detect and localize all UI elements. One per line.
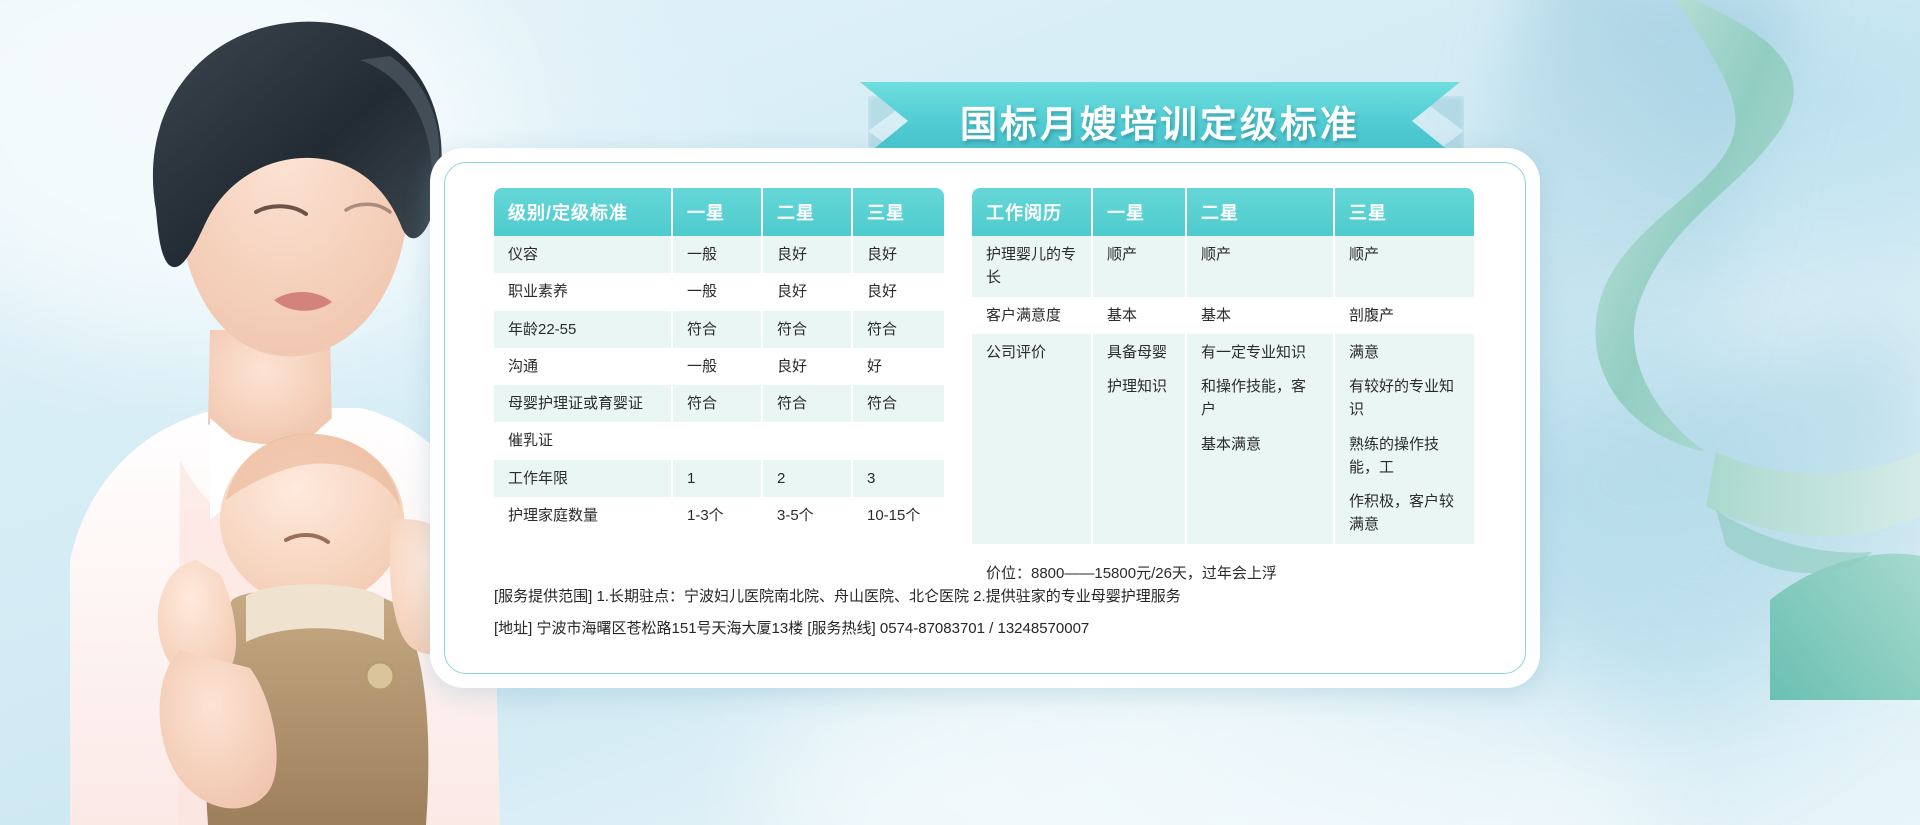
cell-two-star: 符合 [762,385,852,422]
cell-three-star: 良好 [852,273,944,310]
table-row: 职业素养 一般 良好 良好 [494,273,944,310]
work-experience-section: 工作阅历 一星 二星 三星 护理婴儿的专长 顺产 顺产 [972,188,1474,589]
grading-standard-table: 级别/定级标准 一星 二星 三星 仪容 一般 良好 良好 职业素养 [494,188,944,534]
cell-line: 基本 [1201,304,1319,327]
cell-one-star: 一般 [672,348,762,385]
cell-one-star: 1-3个 [672,497,762,534]
cell-two-star: 良好 [762,236,852,273]
page-title: 国标月嫂培训定级标准 [960,94,1360,148]
tables-container: 级别/定级标准 一星 二星 三星 仪容 一般 良好 良好 职业素养 [494,188,1488,589]
cell-two-star [762,422,852,459]
row-label: 客户满意度 [972,297,1092,334]
column-header-one-star: 一星 [1092,188,1186,236]
row-label: 公司评价 [972,334,1092,544]
cell-line: 满意 [1349,341,1460,364]
row-label: 职业素养 [494,273,672,310]
table-row: 催乳证 [494,422,944,459]
cell-three-star: 顺产 [1334,236,1474,297]
column-header-three-star: 三星 [1334,188,1474,236]
cell-three-star: 剖腹产 [1334,297,1474,334]
cell-three-star: 符合 [852,385,944,422]
cell-two-star: 良好 [762,273,852,310]
cell-one-star: 符合 [672,385,762,422]
cell-two-star: 顺产 [1186,236,1334,297]
grading-standard-body: 仪容 一般 良好 良好 职业素养 一般 良好 良好 年龄22-55 符合 [494,236,944,534]
cell-one-star: 一般 [672,273,762,310]
cell-line: 有较好的专业知识 [1349,375,1460,422]
cell-line: 剖腹产 [1349,304,1460,327]
column-header-experience: 工作阅历 [972,188,1092,236]
row-label: 年龄22-55 [494,311,672,348]
cell-line: 顺产 [1349,243,1460,266]
cell-two-star: 良好 [762,348,852,385]
cell-two-star: 3-5个 [762,497,852,534]
row-label: 护理家庭数量 [494,497,672,534]
cell-one-star: 基本 [1092,297,1186,334]
table-row: 沟通 一般 良好 好 [494,348,944,385]
table-row: 护理婴儿的专长 顺产 顺产 顺产 [972,236,1474,297]
cell-one-star: 顺产 [1092,236,1186,297]
work-experience-body: 护理婴儿的专长 顺产 顺产 顺产 客户满意度 [972,236,1474,544]
cell-line: 具备母婴 [1107,341,1171,364]
cell-two-star: 2 [762,460,852,497]
cell-three-star: 满意 有较好的专业知识 熟练的操作技能，工 作积极，客户较满意 [1334,334,1474,544]
service-scope-note: [服务提供范围] 1.长期驻点：宁波妇儿医院南北院、舟山医院、北仑医院 2.提供… [494,581,1181,613]
column-header-two-star: 二星 [1186,188,1334,236]
table-row: 工作年限 1 2 3 [494,460,944,497]
footer-notes: [服务提供范围] 1.长期驻点：宁波妇儿医院南北院、舟山医院、北仑医院 2.提供… [494,581,1181,644]
table-row: 年龄22-55 符合 符合 符合 [494,311,944,348]
table-header-row: 工作阅历 一星 二星 三星 [972,188,1474,236]
row-label: 催乳证 [494,422,672,459]
cell-line: 顺产 [1107,243,1171,266]
cell-three-star: 符合 [852,311,944,348]
column-header-three-star: 三星 [852,188,944,236]
cell-line: 基本 [1107,304,1171,327]
cell-three-star: 3 [852,460,944,497]
cell-two-star: 有一定专业知识 和操作技能，客户 基本满意 [1186,334,1334,544]
cell-line: 和操作技能，客户 [1201,375,1319,422]
cell-one-star: 一般 [672,236,762,273]
cell-three-star: 良好 [852,236,944,273]
cell-line: 基本满意 [1201,433,1319,456]
grading-standard-section: 级别/定级标准 一星 二星 三星 仪容 一般 良好 良好 职业素养 [494,188,944,589]
row-label: 母婴护理证或育婴证 [494,385,672,422]
column-header-criteria: 级别/定级标准 [494,188,672,236]
table-header-row: 级别/定级标准 一星 二星 三星 [494,188,944,236]
row-label: 护理婴儿的专长 [972,236,1092,297]
cell-one-star: 符合 [672,311,762,348]
table-row: 母婴护理证或育婴证 符合 符合 符合 [494,385,944,422]
row-label: 工作年限 [494,460,672,497]
table-row: 仪容 一般 良好 良好 [494,236,944,273]
table-row: 护理家庭数量 1-3个 3-5个 10-15个 [494,497,944,534]
cell-line: 顺产 [1201,243,1319,266]
table-row: 公司评价 具备母婴 护理知识 有一定专业知识 和操作技能，客户 基本满意 满意 [972,334,1474,544]
cell-line: 有一定专业知识 [1201,341,1319,364]
cell-line: 护理知识 [1107,375,1171,398]
table-row: 客户满意度 基本 基本 剖腹产 [972,297,1474,334]
cell-one-star: 1 [672,460,762,497]
work-experience-table: 工作阅历 一星 二星 三星 护理婴儿的专长 顺产 顺产 [972,188,1474,544]
cell-one-star: 具备母婴 护理知识 [1092,334,1186,544]
cell-line: 作积极，客户较满意 [1349,490,1460,537]
cell-three-star: 10-15个 [852,497,944,534]
cell-line: 熟练的操作技能，工 [1349,433,1460,480]
cell-two-star: 基本 [1186,297,1334,334]
row-label: 仪容 [494,236,672,273]
row-label: 沟通 [494,348,672,385]
cell-three-star [852,422,944,459]
cell-three-star: 好 [852,348,944,385]
column-header-one-star: 一星 [672,188,762,236]
cell-two-star: 符合 [762,311,852,348]
address-and-hotline-note: [地址] 宁波市海曙区苍松路151号天海大厦13楼 [服务热线] 0574-87… [494,613,1181,645]
column-header-two-star: 二星 [762,188,852,236]
cell-one-star [672,422,762,459]
content-card: 级别/定级标准 一星 二星 三星 仪容 一般 良好 良好 职业素养 [430,148,1540,688]
